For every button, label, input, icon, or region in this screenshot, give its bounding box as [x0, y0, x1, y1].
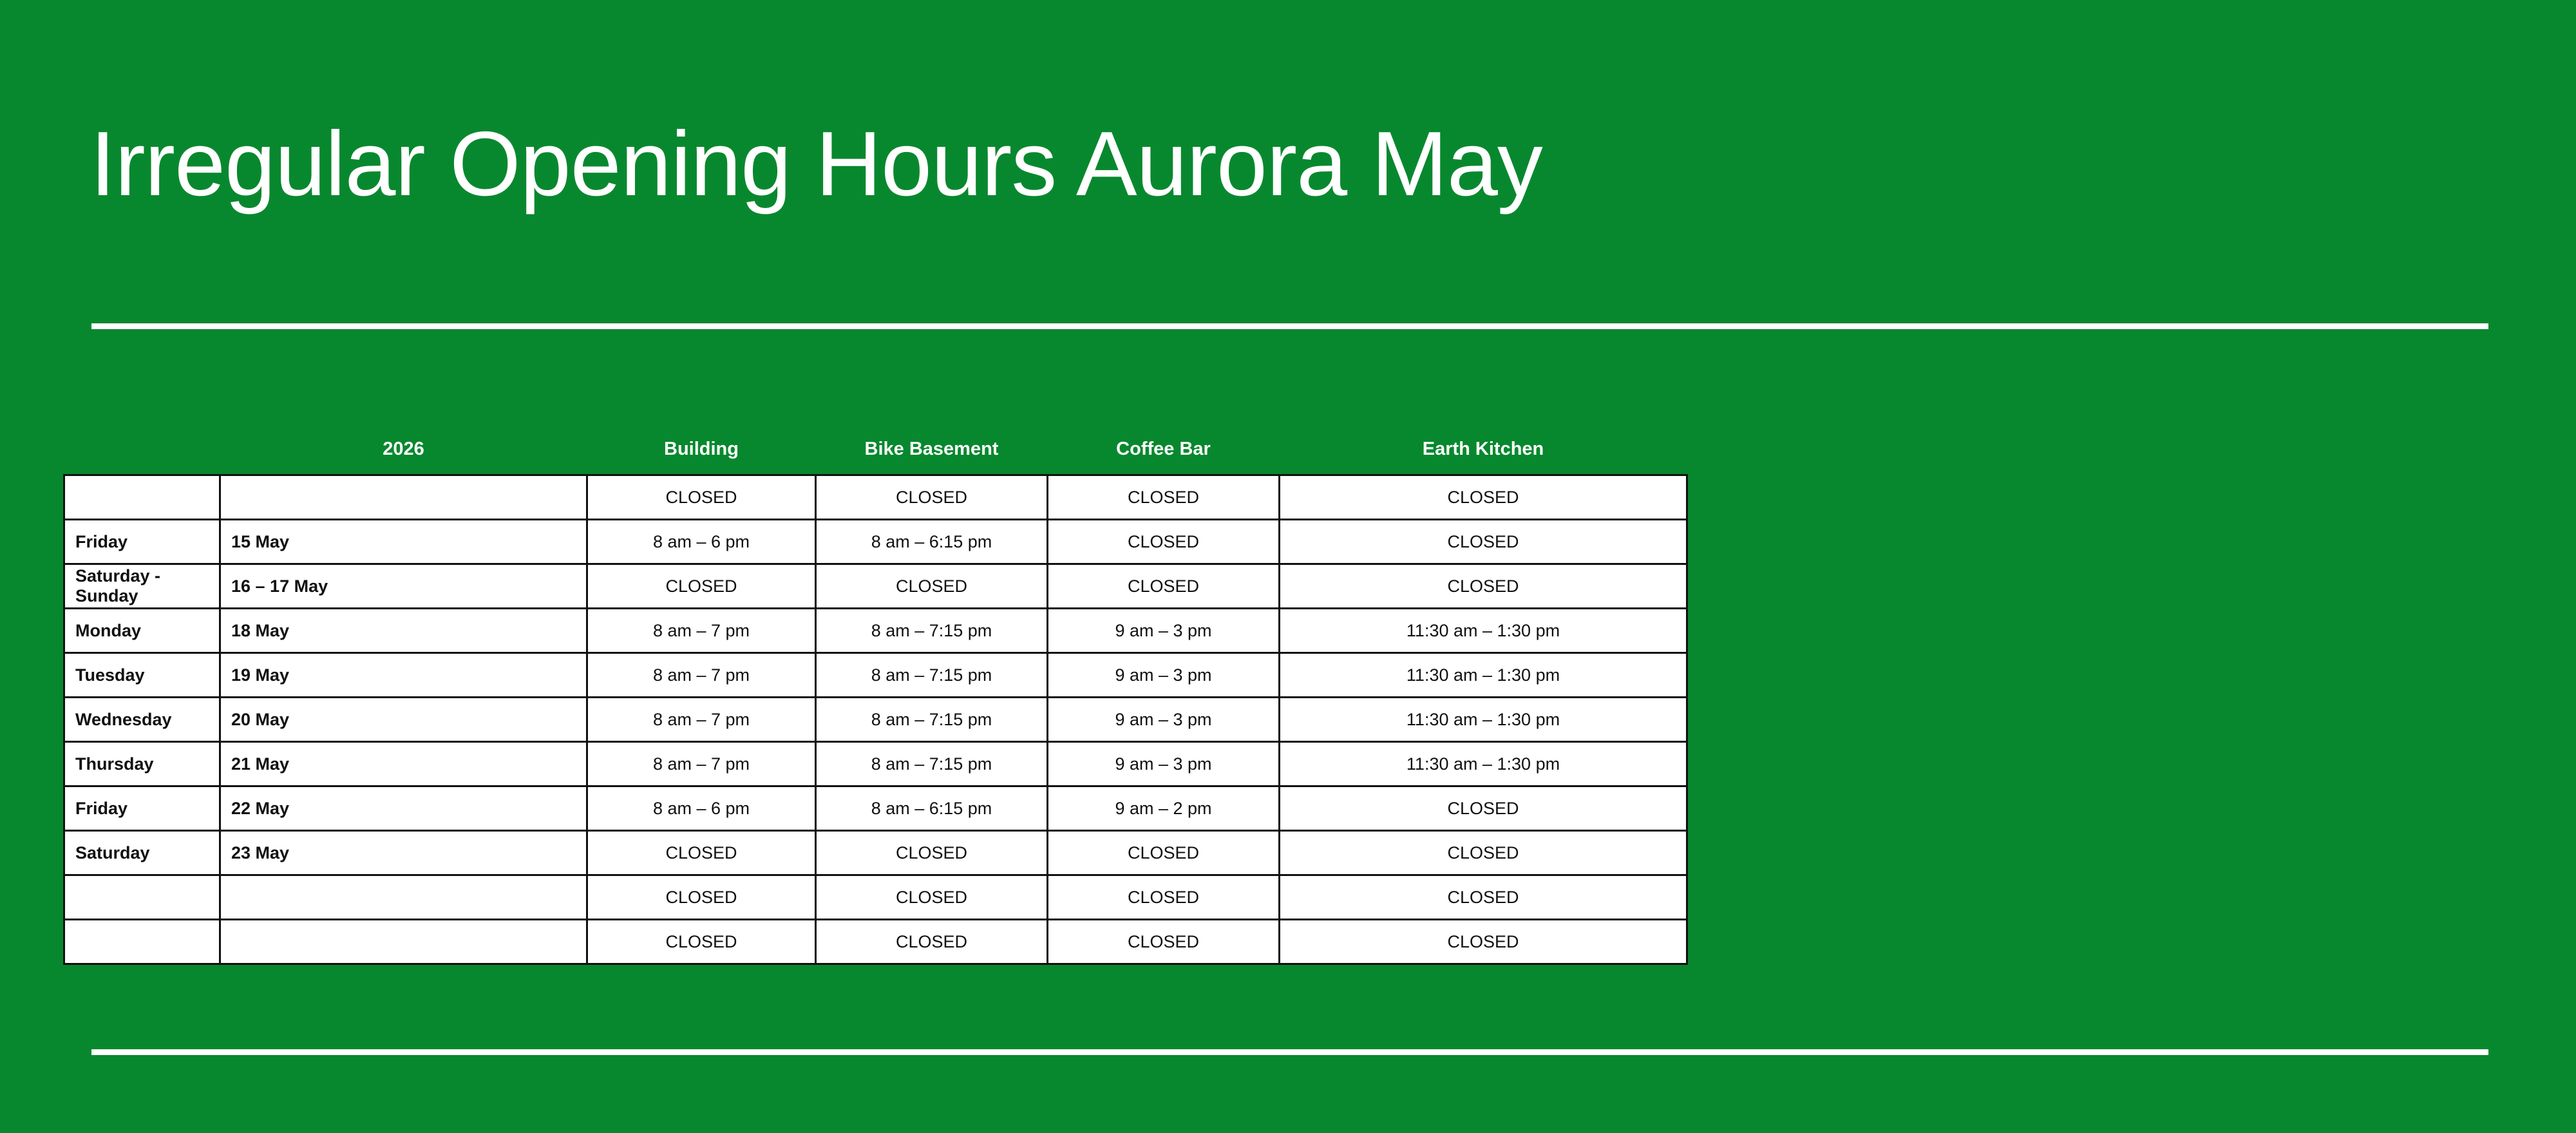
cell-date: 19 May	[220, 653, 587, 698]
cell-date: 25 May	[220, 920, 587, 964]
cell-earth-kitchen-hours: 11:30 am – 1:30 pm	[1280, 609, 1687, 653]
cell-date: 18 May	[220, 609, 587, 653]
column-header-day	[64, 425, 220, 475]
cell-bike-basement-hours: CLOSED	[816, 831, 1048, 875]
table-row: Saturday23 MayCLOSEDCLOSEDCLOSEDCLOSED	[64, 831, 1687, 875]
cell-earth-kitchen-hours: 11:30 am – 1:30 pm	[1280, 653, 1687, 698]
cell-building-hours: CLOSED	[587, 475, 816, 520]
cell-day-name: Saturday	[64, 831, 220, 875]
cell-date: 15 May	[220, 520, 587, 564]
table-header: 2026 Building Bike Basement Coffee Bar E…	[64, 425, 1687, 475]
cell-day-name: Friday	[64, 520, 220, 564]
cell-bike-basement-hours: CLOSED	[816, 920, 1048, 964]
cell-earth-kitchen-hours: CLOSED	[1280, 475, 1687, 520]
cell-date: 20 May	[220, 698, 587, 742]
column-header-bike-basement: Bike Basement	[816, 425, 1048, 475]
cell-day-name: Monday	[64, 609, 220, 653]
cell-date: 24 May	[220, 875, 587, 920]
column-header-year: 2026	[220, 425, 587, 475]
cell-bike-basement-hours: 8 am – 7:15 pm	[816, 653, 1048, 698]
cell-earth-kitchen-hours: CLOSED	[1280, 875, 1687, 920]
cell-building-hours: 8 am – 7 pm	[587, 698, 816, 742]
cell-coffee-bar-hours: CLOSED	[1048, 920, 1280, 964]
schedule-table-container: 2026 Building Bike Basement Coffee Bar E…	[63, 425, 1686, 965]
cell-building-hours: CLOSED	[587, 564, 816, 609]
cell-day-name: Friday	[64, 786, 220, 831]
cell-date: 23 May	[220, 831, 587, 875]
cell-bike-basement-hours: 8 am – 7:15 pm	[816, 609, 1048, 653]
cell-coffee-bar-hours: CLOSED	[1048, 875, 1280, 920]
column-header-coffee-bar: Coffee Bar	[1048, 425, 1280, 475]
cell-building-hours: 8 am – 7 pm	[587, 653, 816, 698]
table-row: Friday15 May8 am – 6 pm8 am – 6:15 pmCLO…	[64, 520, 1687, 564]
column-header-building: Building	[587, 425, 816, 475]
cell-bike-basement-hours: CLOSED	[816, 564, 1048, 609]
table-header-row: 2026 Building Bike Basement Coffee Bar E…	[64, 425, 1687, 475]
cell-bike-basement-hours: 8 am – 7:15 pm	[816, 742, 1048, 786]
cell-bike-basement-hours: 8 am – 6:15 pm	[816, 786, 1048, 831]
cell-earth-kitchen-hours: CLOSED	[1280, 564, 1687, 609]
cell-coffee-bar-hours: 9 am – 3 pm	[1048, 742, 1280, 786]
table-row: Friday22 May8 am – 6 pm8 am – 6:15 pm9 a…	[64, 786, 1687, 831]
opening-hours-table: 2026 Building Bike Basement Coffee Bar E…	[63, 425, 1688, 965]
table-row: Whit Monday25 MayCLOSEDCLOSEDCLOSEDCLOSE…	[64, 920, 1687, 964]
cell-coffee-bar-hours: 9 am – 3 pm	[1048, 609, 1280, 653]
table-row: Whit Sunday24 MayCLOSEDCLOSEDCLOSEDCLOSE…	[64, 875, 1687, 920]
cell-coffee-bar-hours: CLOSED	[1048, 564, 1280, 609]
cell-date: 14 May	[220, 475, 587, 520]
cell-building-hours: 8 am – 7 pm	[587, 742, 816, 786]
table-row: Wednesday20 May8 am – 7 pm8 am – 7:15 pm…	[64, 698, 1687, 742]
title-divider	[91, 323, 2488, 329]
cell-building-hours: CLOSED	[587, 831, 816, 875]
cell-building-hours: CLOSED	[587, 920, 816, 964]
cell-date: 21 May	[220, 742, 587, 786]
table-body: Ascencion Day14 MayCLOSEDCLOSEDCLOSEDCLO…	[64, 475, 1687, 964]
cell-coffee-bar-hours: 9 am – 3 pm	[1048, 698, 1280, 742]
cell-coffee-bar-hours: CLOSED	[1048, 831, 1280, 875]
cell-earth-kitchen-hours: CLOSED	[1280, 786, 1687, 831]
cell-earth-kitchen-hours: CLOSED	[1280, 520, 1687, 564]
cell-coffee-bar-hours: 9 am – 3 pm	[1048, 653, 1280, 698]
cell-date: 22 May	[220, 786, 587, 831]
table-row: Tuesday19 May8 am – 7 pm8 am – 7:15 pm9 …	[64, 653, 1687, 698]
page-title: Irregular Opening Hours Aurora May	[90, 113, 2486, 215]
cell-day-name: Thursday	[64, 742, 220, 786]
column-header-earth-kitchen: Earth Kitchen	[1280, 425, 1687, 475]
cell-building-hours: 8 am – 6 pm	[587, 520, 816, 564]
cell-bike-basement-hours: CLOSED	[816, 475, 1048, 520]
footer-divider	[91, 1049, 2488, 1055]
cell-day-name: Whit Sunday	[64, 875, 220, 920]
cell-bike-basement-hours: 8 am – 6:15 pm	[816, 520, 1048, 564]
cell-day-name: Tuesday	[64, 653, 220, 698]
cell-building-hours: CLOSED	[587, 875, 816, 920]
table-row: Ascencion Day14 MayCLOSEDCLOSEDCLOSEDCLO…	[64, 475, 1687, 520]
table-row: Monday18 May8 am – 7 pm8 am – 7:15 pm9 a…	[64, 609, 1687, 653]
table-row: Saturday - Sunday16 – 17 MayCLOSEDCLOSED…	[64, 564, 1687, 609]
cell-earth-kitchen-hours: 11:30 am – 1:30 pm	[1280, 698, 1687, 742]
cell-day-name: Ascencion Day	[64, 475, 220, 520]
cell-day-name: Saturday - Sunday	[64, 564, 220, 609]
cell-building-hours: 8 am – 6 pm	[587, 786, 816, 831]
cell-day-name: Wednesday	[64, 698, 220, 742]
cell-earth-kitchen-hours: CLOSED	[1280, 831, 1687, 875]
cell-coffee-bar-hours: 9 am – 2 pm	[1048, 786, 1280, 831]
cell-coffee-bar-hours: CLOSED	[1048, 475, 1280, 520]
cell-bike-basement-hours: CLOSED	[816, 875, 1048, 920]
table-row: Thursday21 May8 am – 7 pm8 am – 7:15 pm9…	[64, 742, 1687, 786]
cell-date: 16 – 17 May	[220, 564, 587, 609]
cell-earth-kitchen-hours: CLOSED	[1280, 920, 1687, 964]
cell-bike-basement-hours: 8 am – 7:15 pm	[816, 698, 1048, 742]
cell-coffee-bar-hours: CLOSED	[1048, 520, 1280, 564]
cell-building-hours: 8 am – 7 pm	[587, 609, 816, 653]
cell-day-name: Whit Monday	[64, 920, 220, 964]
cell-earth-kitchen-hours: 11:30 am – 1:30 pm	[1280, 742, 1687, 786]
